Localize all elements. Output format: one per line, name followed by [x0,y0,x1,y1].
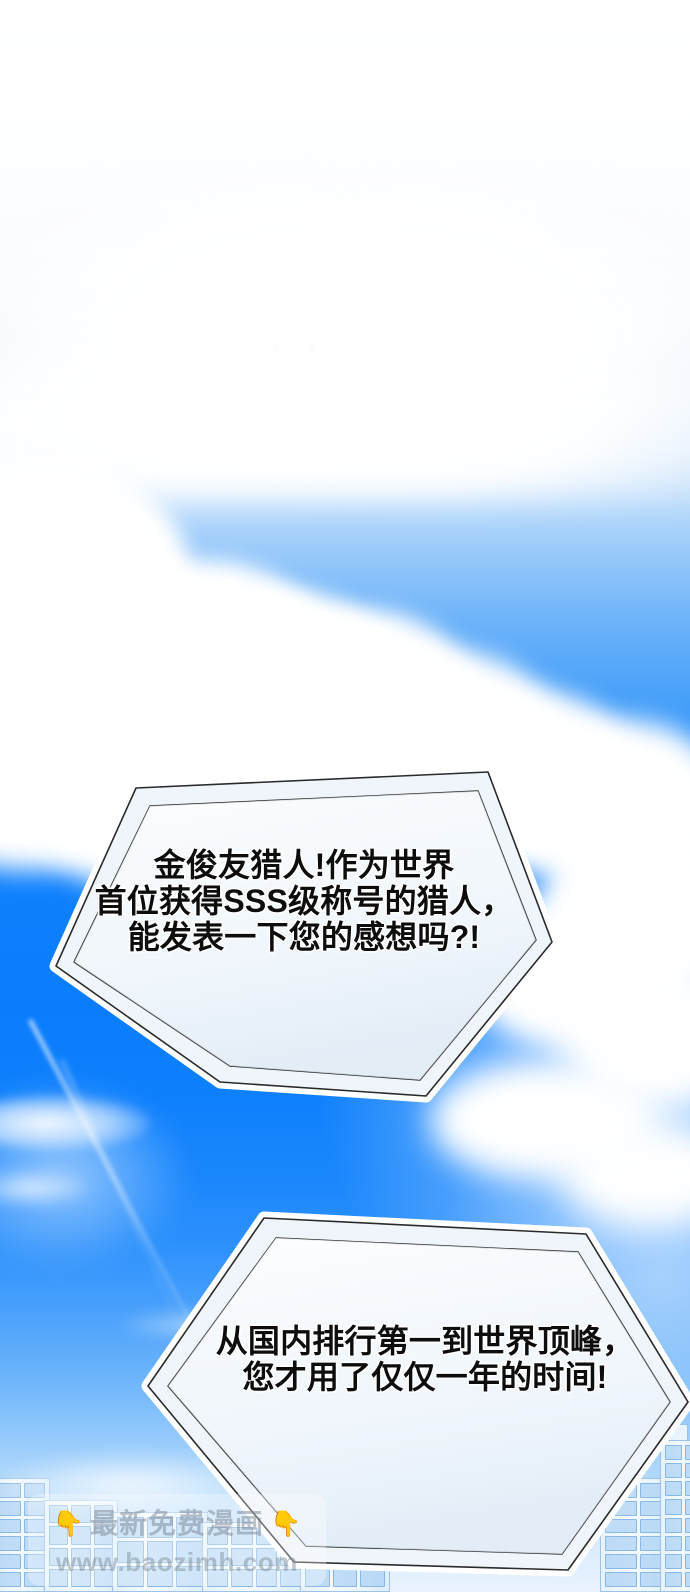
comic-panel: 金俊友猎人!作为世界 首位获得SSS级称号的猎人， 能发表一下您的感想吗?! 从… [0,0,690,1592]
speech-bubble-1-shape [44,766,564,1102]
speech-bubble-2: 从国内排行第一到世界顶峰， 您才用了仅仅一年的时间! [134,1206,690,1572]
speech-bubble-1: 金俊友猎人!作为世界 首位获得SSS级称号的猎人， 能发表一下您的感想吗?! [44,766,564,1102]
speech-bubble-2-shape [134,1206,690,1572]
